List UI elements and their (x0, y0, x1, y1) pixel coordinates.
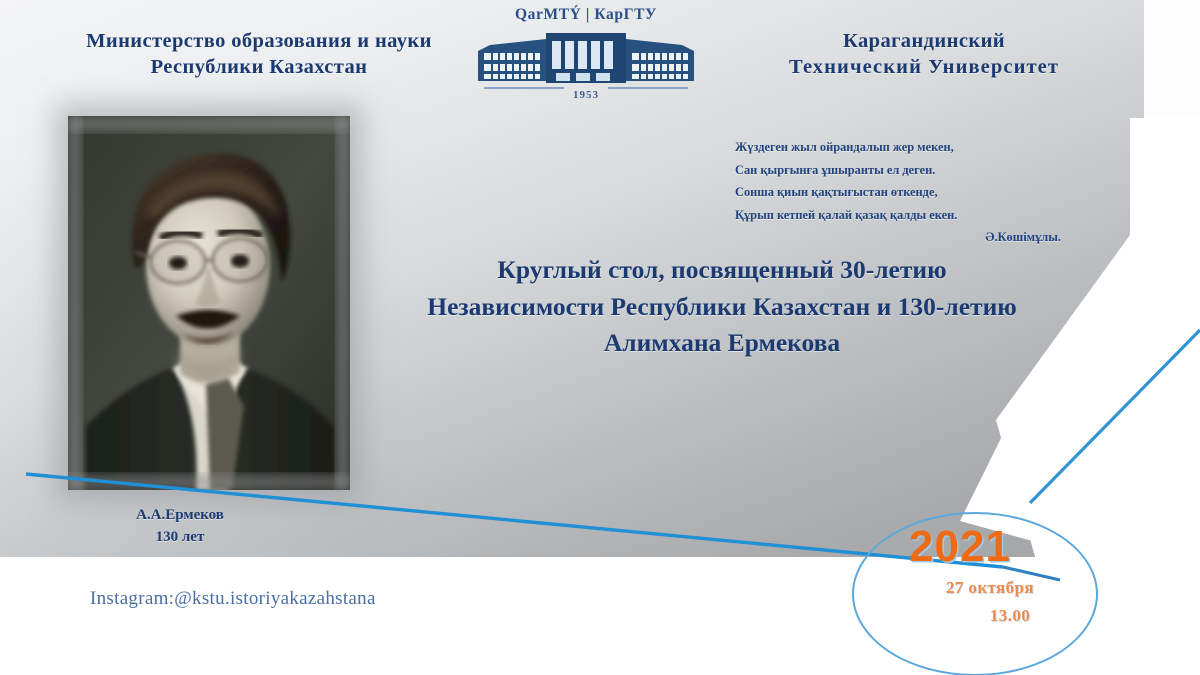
event-day-month: 27 октября (900, 578, 1080, 598)
slide-canvas: Министерство образования и науки Республ… (0, 0, 1200, 675)
event-time: 13.00 (930, 606, 1090, 626)
diagonal-line-lower-left (26, 474, 1003, 567)
event-year: 2021 (870, 522, 1050, 572)
diagonal-line-upper-right (1030, 330, 1200, 503)
